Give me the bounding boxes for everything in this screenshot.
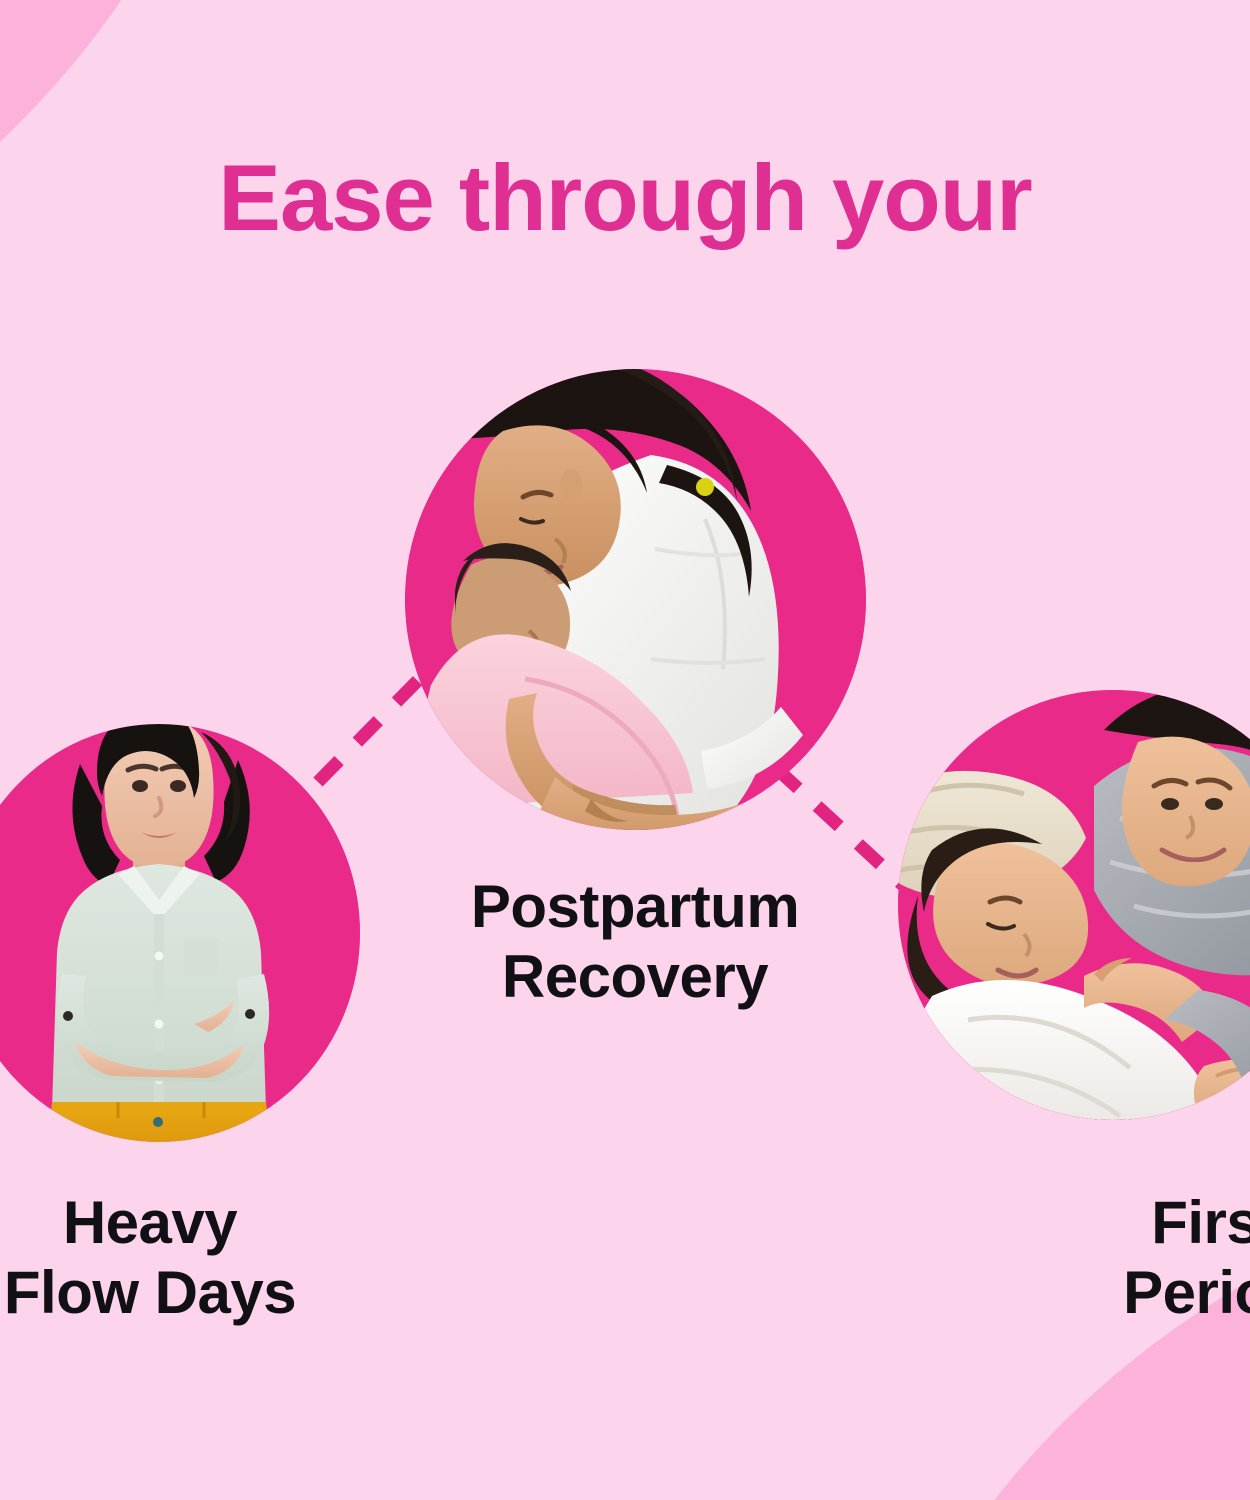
heavy-flow-photo — [0, 724, 360, 1142]
first-period-disc — [898, 690, 1250, 1120]
page-title: Ease through your — [0, 150, 1250, 246]
node-label-heavy-flow: Heavy Flow Days — [0, 1188, 440, 1328]
promo-banner: Ease through your — [0, 0, 1250, 1500]
node-label-first-period: First Period — [925, 1188, 1250, 1328]
first-period-photo — [898, 690, 1250, 1120]
postpartum-disc — [405, 369, 866, 830]
node-label-postpartum: Postpartum Recovery — [345, 872, 925, 1012]
postpartum-photo — [405, 369, 866, 830]
heavy-flow-disc — [0, 724, 360, 1142]
